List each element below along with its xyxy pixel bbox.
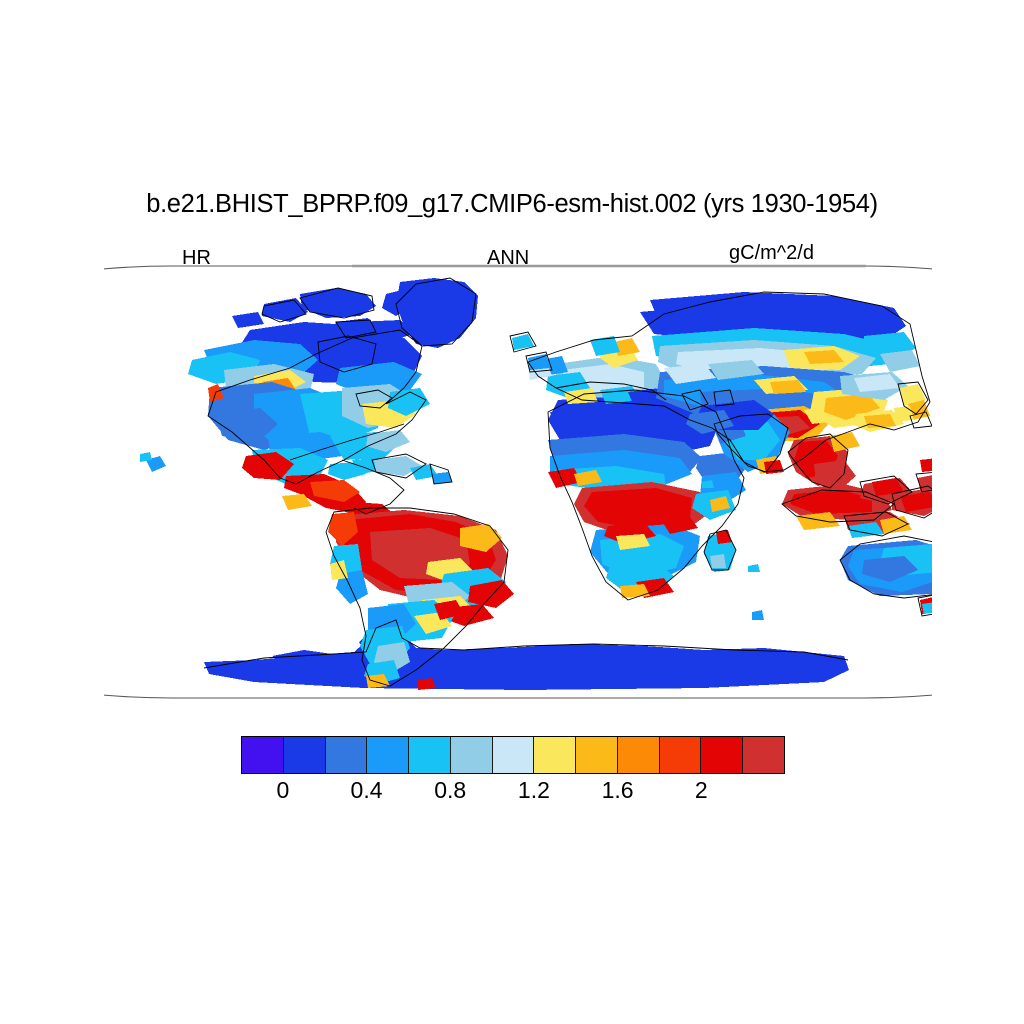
swatch-2: [284, 737, 326, 773]
colorbar-tick: 0: [276, 779, 289, 802]
page-title: b.e21.BHIST_BPRP.f09_g17.CMIP6-esm-hist.…: [0, 192, 1024, 218]
colorbar-tick: 0.4: [351, 779, 383, 802]
colorbar-tick: 1.2: [518, 779, 550, 802]
colorbar-tick: 0.8: [434, 779, 466, 802]
swatch-9: [576, 737, 618, 773]
swatch-3: [326, 737, 368, 773]
swatch-1: [242, 737, 284, 773]
swatch-6: [451, 737, 493, 773]
colorbar: [241, 736, 785, 774]
world-map-robinson: [104, 264, 932, 700]
swatch-11: [660, 737, 702, 773]
swatch-8: [534, 737, 576, 773]
figure-canvas: b.e21.BHIST_BPRP.f09_g17.CMIP6-esm-hist.…: [0, 0, 1024, 1024]
colorbar-tick: 2: [695, 779, 708, 802]
colorbar-tick-labels: 00.40.81.21.62: [241, 779, 785, 809]
colorbar-tick: 1.6: [602, 779, 634, 802]
swatch-12: [701, 737, 743, 773]
map-panel: [104, 264, 932, 700]
swatch-4: [367, 737, 409, 773]
swatch-7: [493, 737, 535, 773]
swatch-13: [743, 737, 784, 773]
units-label: gC/m^2/d: [729, 243, 814, 263]
swatch-5: [409, 737, 451, 773]
swatch-10: [618, 737, 660, 773]
